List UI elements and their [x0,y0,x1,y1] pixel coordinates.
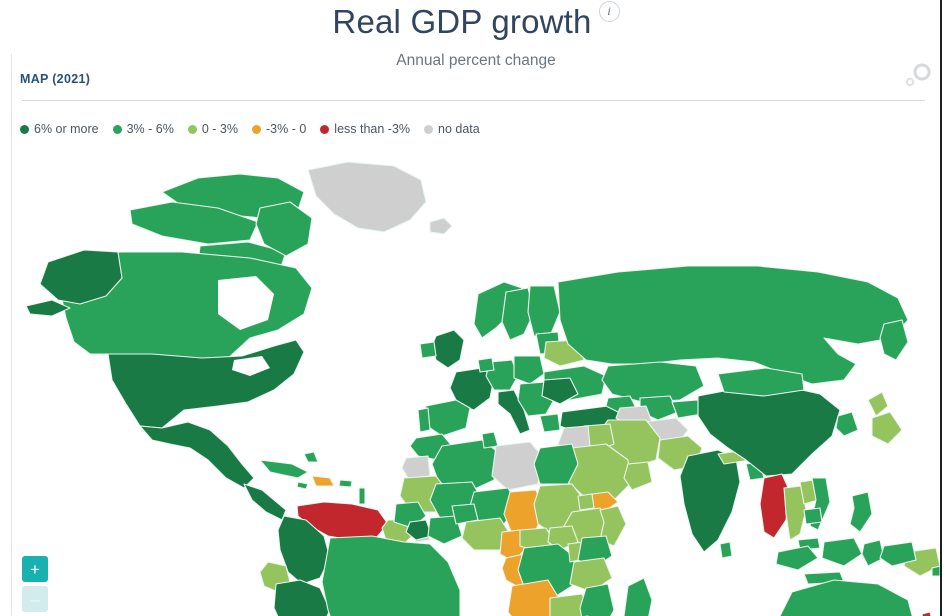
legend-swatch-icon [20,125,29,134]
region-portugal[interactable] [418,408,430,432]
right-margin [942,0,952,616]
region-ireland[interactable] [420,342,436,358]
page-subtitle: Annual percent change [0,52,952,70]
legend-item-1[interactable]: 3% - 6% [113,122,174,136]
zoom-in-button[interactable]: + [22,556,48,582]
region-mongolia[interactable] [718,368,804,396]
region-australia[interactable] [778,580,916,616]
legend-label: no data [438,122,480,136]
region-koreas[interactable] [836,412,858,436]
legend-swatch-icon [188,125,197,134]
map-legend: 6% or more 3% - 6% 0 - 3% -3% - 0 less t… [20,122,494,136]
region-solomon-islands[interactable] [932,566,940,576]
legend-item-0[interactable]: 6% or more [20,122,99,136]
region-sri-lanka[interactable] [720,542,732,558]
legend-label: 0 - 3% [202,122,238,136]
region-greece[interactable] [540,414,560,432]
settings-bubbles-icon[interactable] [900,62,934,92]
region-philippines[interactable] [850,492,872,532]
legend-swatch-icon [113,125,122,134]
region-peru[interactable] [274,580,330,616]
page-title: Real GDP growth [332,2,591,42]
map-year-label: MAP (2021) [20,72,90,86]
region-eritrea-djibouti[interactable] [578,494,594,510]
region-indonesia-sumatra[interactable] [776,546,818,570]
region-poland[interactable] [514,356,544,384]
region-puerto-rico[interactable] [339,480,352,487]
region-spain[interactable] [424,400,470,436]
region-cuba[interactable] [260,460,308,478]
legend-item-4[interactable]: less than -3% [320,122,410,136]
region-kamchatka[interactable] [880,320,908,360]
region-fiji[interactable] [922,612,932,616]
region-uk[interactable] [432,330,464,368]
region-lesser-antilles[interactable] [359,488,365,504]
region-benelux[interactable] [478,358,494,372]
legend-label: -3% - 0 [266,122,306,136]
region-finland[interactable] [528,286,560,336]
region-brazil[interactable] [322,536,460,616]
gdp-growth-map-widget: Real GDP growthi Annual percent change M… [0,0,952,616]
legend-label: 3% - 6% [127,122,174,136]
world-choropleth-map[interactable] [12,148,940,616]
region-central-america[interactable] [244,484,286,520]
legend-item-5[interactable]: no data [424,122,480,136]
region-hispaniola[interactable] [312,476,334,486]
legend-swatch-icon [252,125,261,134]
region-western-sahara[interactable] [402,456,430,478]
region-jamaica[interactable] [297,482,308,489]
region-cambodia[interactable] [804,508,822,524]
region-iceland[interactable] [430,218,452,234]
legend-label: less than -3% [334,122,410,136]
header-divider [22,100,925,101]
region-india[interactable] [680,450,740,552]
legend-swatch-icon [320,125,329,134]
region-indonesia-borneo[interactable] [822,538,862,566]
info-icon[interactable]: i [599,1,620,22]
zoom-out-button[interactable]: – [22,586,48,612]
legend-item-2[interactable]: 0 - 3% [188,122,238,136]
region-mexico[interactable] [140,422,254,488]
region-japan[interactable] [868,392,888,416]
region-greenland[interactable] [308,162,426,232]
legend-item-3[interactable]: -3% - 0 [252,122,306,136]
region-kazakhstan[interactable] [602,362,704,402]
map-svg[interactable] [12,148,940,616]
region-bahamas[interactable] [304,452,318,462]
region-japan-honshu[interactable] [872,412,902,444]
region-madagascar[interactable] [624,578,652,616]
legend-swatch-icon [424,125,433,134]
region-tunisia[interactable] [482,432,498,448]
legend-label: 6% or more [34,122,99,136]
header: Real GDP growthi [0,2,952,42]
region-egypt[interactable] [534,444,578,484]
map-zoom-controls[interactable]: + – [22,556,48,612]
region-indonesia-sulawesi[interactable] [862,540,884,566]
